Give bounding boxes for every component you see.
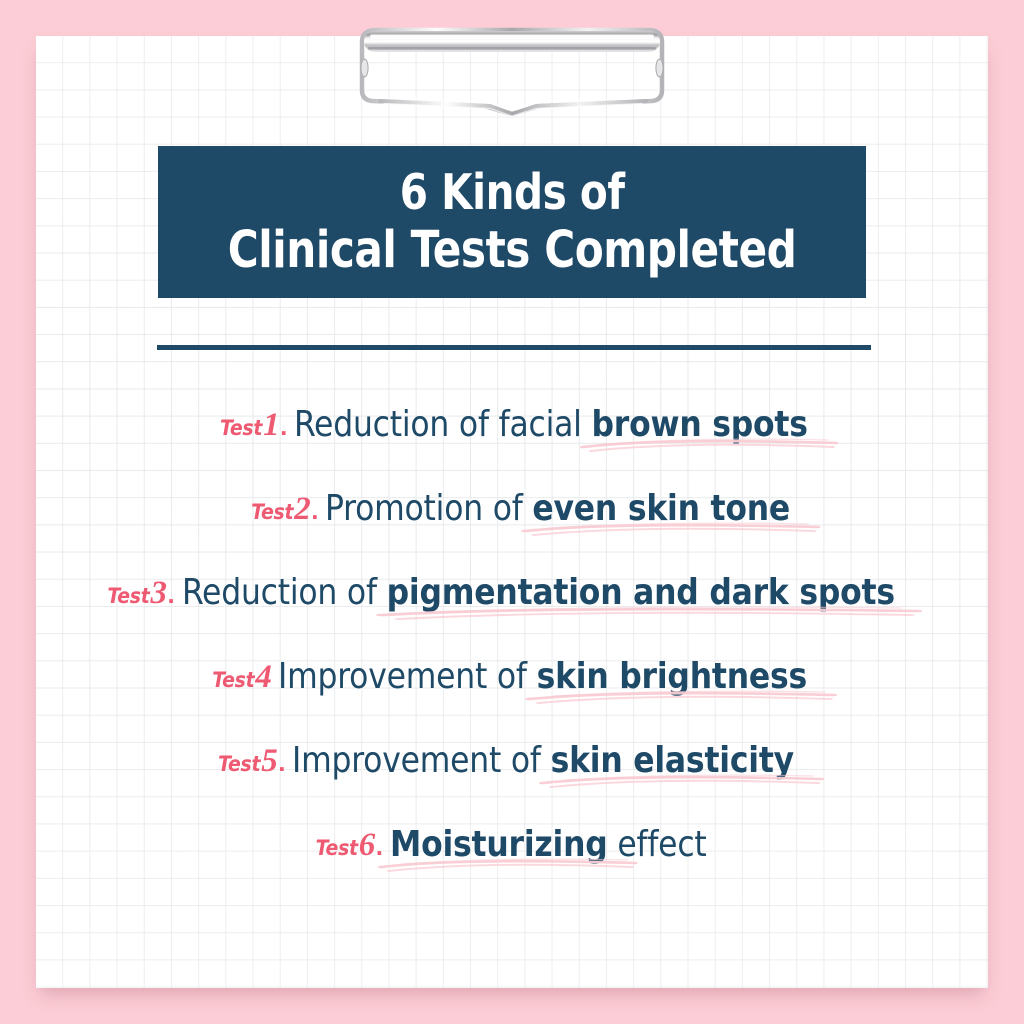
test-tag-word: Test <box>220 416 262 440</box>
list-item: Test6. Moisturizing effect <box>0 802 1024 886</box>
title-banner: 6 Kinds of Clinical Tests Completed <box>158 146 866 298</box>
list-item-text: Promotion of even skin tone <box>325 488 790 529</box>
test-tag-word: Test <box>107 584 149 608</box>
list-item: Test2.Promotion of even skin tone <box>0 466 1024 550</box>
list-item-text: Reduction of facial brown spots <box>294 404 808 445</box>
banner-title-line-1: 6 Kinds of <box>400 164 625 222</box>
list-item-content: Test1.Reduction of facial brown spots <box>220 404 824 445</box>
test-tag-number: 5 <box>261 743 277 780</box>
test-tag-number: 2 <box>294 491 310 528</box>
plain-phrase: Reduction of <box>182 572 387 613</box>
test-tag-number: 3 <box>150 575 166 612</box>
test-tag-dot: . <box>311 495 318 526</box>
test-number-tag: Test4 <box>212 659 271 696</box>
highlight-phrase: even skin tone <box>533 488 791 529</box>
test-tag-number: 4 <box>255 659 271 696</box>
section-divider <box>157 345 871 350</box>
test-number-tag: Test2. <box>251 491 318 528</box>
list-item: Test5.Improvement of skin elasticity <box>0 718 1024 802</box>
clipboard-clip-icon <box>340 18 684 122</box>
highlight-phrase: skin brightness <box>537 656 807 697</box>
poster-stage: 6 Kinds of Clinical Tests Completed Test… <box>0 0 1024 1024</box>
highlight-phrase: pigmentation and dark spots <box>386 572 894 613</box>
clinical-test-list: Test1.Reduction of facial brown spotsTes… <box>0 382 1024 886</box>
list-item: Test4 Improvement of skin brightness <box>0 634 1024 718</box>
plain-phrase: Improvement of <box>292 740 551 781</box>
banner-title-line-2: Clinical Tests Completed <box>228 222 797 280</box>
test-tag-word: Test <box>218 752 260 776</box>
list-item-text: Improvement of skin brightness <box>278 656 807 697</box>
test-tag-number: 6 <box>359 827 375 864</box>
test-tag-dot: . <box>278 747 285 778</box>
plain-phrase: Promotion of <box>325 488 532 529</box>
test-tag-word: Test <box>251 500 293 524</box>
list-item-text: Reduction of pigmentation and dark spots <box>182 572 895 613</box>
test-number-tag: Test5. <box>218 743 285 780</box>
highlight-phrase: skin elasticity <box>551 740 794 781</box>
list-item-text: Moisturizing effect <box>390 824 707 865</box>
test-tag-dot: . <box>376 831 383 862</box>
plain-phrase: Reduction of facial <box>294 404 592 445</box>
test-tag-dot: . <box>280 411 287 442</box>
highlight-phrase: Moisturizing <box>390 824 608 865</box>
list-item-content: Test6. Moisturizing effect <box>316 824 717 865</box>
list-item: Test3. Reduction of pigmentation and dar… <box>0 550 1024 634</box>
test-number-tag: Test6. <box>316 827 383 864</box>
plain-phrase: effect <box>608 824 707 865</box>
test-number-tag: Test1. <box>220 407 287 444</box>
test-tag-dot: . <box>167 579 174 610</box>
list-item-content: Test4 Improvement of skin brightness <box>212 656 824 697</box>
list-item-content: Test5.Improvement of skin elasticity <box>218 740 810 781</box>
plain-phrase: Improvement of <box>278 656 537 697</box>
list-item-content: Test2.Promotion of even skin tone <box>251 488 805 529</box>
list-item: Test1.Reduction of facial brown spots <box>0 382 1024 466</box>
test-tag-word: Test <box>212 668 254 692</box>
highlight-phrase: brown spots <box>592 404 808 445</box>
test-number-tag: Test3. <box>107 575 174 612</box>
test-tag-word: Test <box>316 836 358 860</box>
list-item-content: Test3. Reduction of pigmentation and dar… <box>107 572 916 613</box>
test-tag-number: 1 <box>263 407 279 444</box>
list-item-text: Improvement of skin elasticity <box>292 740 794 781</box>
